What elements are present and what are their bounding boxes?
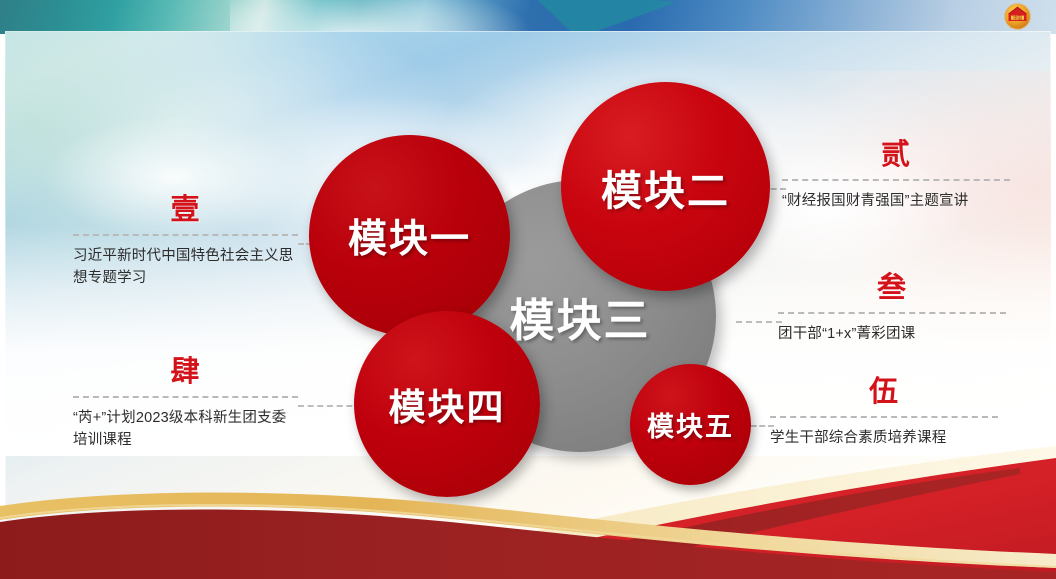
caption-description-2: “财经报国财青强国”主题宣讲 <box>782 190 1010 212</box>
svg-text:中国: 中国 <box>1013 14 1022 21</box>
caption-description-1: 习近平新时代中国特色社会主义思想专题学习 <box>73 245 298 290</box>
caption-divider-5 <box>770 416 998 418</box>
caption-divider-3 <box>778 312 1006 314</box>
communist-youth-league-badge-icon: 中国 <box>1001 1 1034 31</box>
module-circle-3-label: 模块三 <box>509 284 650 349</box>
caption-block-2[interactable]: 贰 “财经报国财青强国”主题宣讲 <box>782 141 1010 212</box>
caption-divider-1 <box>73 234 298 236</box>
top-banner-strip <box>0 0 1056 34</box>
connector-line-3 <box>736 321 782 323</box>
slide-canvas: 中国 模块三 模块一 模块二 模块四 模块五 壹 习近平新时代中国特色社会主义思… <box>0 0 1056 579</box>
caption-block-4[interactable]: 肆 “芮+”计划2023级本科新生团支委培训课程 <box>73 358 298 452</box>
module-circle-2-label: 模块二 <box>601 157 730 217</box>
module-circle-1[interactable]: 模块一 <box>309 135 510 336</box>
bottom-ribbon-decoration <box>0 444 1056 579</box>
caption-description-3: 团干部“1+x”菁彩团课 <box>778 323 1006 345</box>
module-circle-1-label: 模块一 <box>348 208 471 264</box>
caption-numeral-5: 伍 <box>770 378 998 407</box>
caption-block-3[interactable]: 叁 团干部“1+x”菁彩团课 <box>778 274 1006 345</box>
caption-numeral-4: 肆 <box>73 358 298 387</box>
caption-block-5[interactable]: 伍 学生干部综合素质培养课程 <box>770 378 998 449</box>
caption-numeral-2: 贰 <box>782 141 1010 170</box>
banner-wedge-shape <box>518 0 677 34</box>
caption-numeral-1: 壹 <box>73 196 298 225</box>
connector-line-4 <box>298 405 362 407</box>
caption-block-1[interactable]: 壹 习近平新时代中国特色社会主义思想专题学习 <box>73 196 298 290</box>
caption-numeral-3: 叁 <box>778 274 1006 303</box>
caption-divider-4 <box>73 396 298 398</box>
module-circle-2[interactable]: 模块二 <box>561 82 770 291</box>
module-circle-4-label: 模块四 <box>389 377 506 431</box>
module-circle-5-label: 模块五 <box>647 405 734 444</box>
caption-divider-2 <box>782 179 1010 181</box>
